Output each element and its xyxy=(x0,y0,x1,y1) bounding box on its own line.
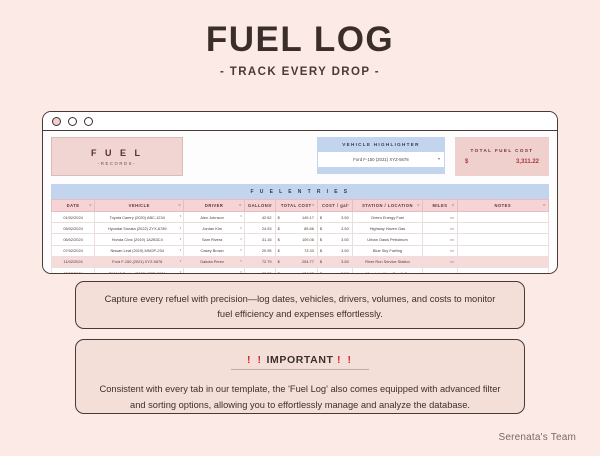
cell-station-value: Urban Oasis Petroleum xyxy=(367,237,407,242)
cell-miles-value: mi xyxy=(450,248,454,253)
total-fuel-cost-card: TOTAL FUEL COST $ 3,311.22 xyxy=(455,137,549,176)
chevron-down-icon[interactable]: ▾ xyxy=(240,214,242,218)
cell-cost-per-gal[interactable]: $3.50 xyxy=(317,212,352,223)
column-header-label: DATE xyxy=(67,203,80,208)
cell-cost-per-gal-value: 3.50 xyxy=(341,237,349,242)
cell-gallons-value: 20.95 xyxy=(262,248,272,253)
currency-symbol: $ xyxy=(278,271,280,274)
column-header-label: TOTAL COST xyxy=(281,203,312,208)
table-row[interactable]: 11/02/2024Ford F-150 (2021) XYZ-5678▾Dak… xyxy=(52,256,549,267)
table-header: DATE▽VEHICLE▽DRIVER▽GALLONS▽TOTAL COST▽C… xyxy=(52,200,549,212)
total-fuel-cost-currency: $ xyxy=(465,159,468,165)
column-header-date[interactable]: DATE▽ xyxy=(52,200,95,212)
filter-icon[interactable]: ▽ xyxy=(178,203,181,207)
chevron-down-icon[interactable]: ▾ xyxy=(180,248,182,252)
cell-notes[interactable] xyxy=(457,223,548,234)
cell-miles-value: mi xyxy=(450,271,454,274)
vehicle-highlighter-footer xyxy=(317,167,445,174)
spreadsheet-body: F U E L -RECORDS- VEHICLE HIGHLIGHTER Fo… xyxy=(43,131,557,273)
table-row[interactable]: 07/02/2024Nissan Leaf (2019) MNOP-234▾Ca… xyxy=(52,245,549,256)
filter-icon[interactable]: ▽ xyxy=(347,203,350,207)
cell-miles[interactable]: mi xyxy=(423,245,457,256)
cell-date-value: 01/02/2024 xyxy=(63,215,82,220)
warning-bang-right-icon: ! ! xyxy=(337,354,353,366)
maximize-dot-icon[interactable] xyxy=(84,117,93,126)
fuel-records-title: F U E L xyxy=(91,148,143,158)
cell-miles[interactable]: mi xyxy=(423,212,457,223)
cell-miles-value: mi xyxy=(450,215,454,220)
cell-vehicle-value: BMW 3 Series (2020) QRS-8901 xyxy=(109,271,166,274)
cell-driver-value: Dakota Perez xyxy=(200,259,224,264)
cell-date[interactable]: 11/02/2024 xyxy=(52,256,95,267)
cell-gallons-value: 42.62 xyxy=(262,215,272,220)
page-subtitle: - TRACK EVERY DROP - xyxy=(0,66,600,78)
fuel-entries-table: DATE▽VEHICLE▽DRIVER▽GALLONS▽TOTAL COST▽C… xyxy=(51,199,549,274)
cell-station[interactable]: Blue Sky Fueling xyxy=(352,245,423,256)
warning-bang-left-icon: ! ! xyxy=(247,354,263,366)
cell-station-value: Highway Haven Gas xyxy=(370,226,405,231)
cell-cost-per-gal[interactable]: $3.50 xyxy=(317,267,352,274)
cell-station-value: Blue Sky Fueling xyxy=(373,248,402,253)
table-row[interactable]: 01/02/2024Toyota Camry (2020) ABC-1234▾A… xyxy=(52,212,549,223)
cell-total-cost[interactable]: $149.17 xyxy=(275,212,317,223)
cell-driver[interactable]: ▾ xyxy=(184,267,245,274)
currency-symbol: $ xyxy=(320,248,322,253)
filter-icon[interactable]: ▽ xyxy=(239,203,242,207)
cell-driver[interactable]: Jordan Kim▾ xyxy=(184,223,245,234)
cell-miles-value: mi xyxy=(450,259,454,264)
cell-total-cost[interactable]: $85.86 xyxy=(275,223,317,234)
filter-icon[interactable]: ▽ xyxy=(89,203,92,207)
cell-cost-per-gal[interactable]: $3.50 xyxy=(317,223,352,234)
column-header-gallons[interactable]: GALLONS▽ xyxy=(244,200,275,212)
cell-gallons-value: 24.53 xyxy=(262,226,272,231)
cell-notes[interactable] xyxy=(457,256,548,267)
column-header-driver[interactable]: DRIVER▽ xyxy=(184,200,245,212)
important-text: Consistent with every tab in our templat… xyxy=(98,381,502,414)
cell-gallons[interactable]: 24.53 xyxy=(244,223,275,234)
cell-total-cost-value: 254.77 xyxy=(302,259,314,264)
column-header-label: NOTES xyxy=(495,203,512,208)
column-header-label: VEHICLE xyxy=(129,203,150,208)
spreadsheet-window: F U E L -RECORDS- VEHICLE HIGHLIGHTER Fo… xyxy=(42,111,558,274)
currency-symbol: $ xyxy=(278,237,280,242)
cell-total-cost-value: 149.17 xyxy=(302,215,314,220)
cell-gallons[interactable]: 72.79 xyxy=(244,256,275,267)
cell-total-cost[interactable]: $124.53 xyxy=(275,267,317,274)
column-header-label: COST / gal xyxy=(322,203,348,208)
filter-icon[interactable]: ▽ xyxy=(270,203,273,207)
column-header-vehicle[interactable]: VEHICLE▽ xyxy=(95,200,184,212)
currency-symbol: $ xyxy=(278,215,280,220)
page-header: FUEL LOG - TRACK EVERY DROP - xyxy=(0,0,600,78)
cell-cost-per-gal[interactable]: $3.50 xyxy=(317,245,352,256)
fuel-records-card: F U E L -RECORDS- xyxy=(51,137,183,176)
chevron-down-icon[interactable]: ▾ xyxy=(180,270,182,274)
cell-date[interactable]: 01/02/2024 xyxy=(52,212,95,223)
cell-driver-value: Casey Brown xyxy=(201,248,224,253)
page-root: FUEL LOG - TRACK EVERY DROP - F U E L -R… xyxy=(0,0,600,456)
cell-date-value: 07/02/2024 xyxy=(63,248,82,253)
cell-date[interactable]: 07/02/2024 xyxy=(52,245,95,256)
cell-station[interactable]: River Run Service Station xyxy=(352,256,423,267)
fuel-records-subtitle: -RECORDS- xyxy=(98,161,136,166)
column-header-label: GALLONS xyxy=(248,203,272,208)
fuel-entries-table-wrap: F U E L E N T R I E S DATE▽VEHICLE▽DRIVE… xyxy=(51,184,549,274)
currency-symbol: $ xyxy=(320,271,322,274)
currency-symbol: $ xyxy=(278,226,280,231)
cell-vehicle[interactable]: Hyundai Sonata (2022) ZYX-6789▾ xyxy=(95,223,184,234)
total-fuel-cost-amount: 3,311.22 xyxy=(516,159,539,165)
cell-vehicle[interactable]: Honda Civic (2019) 1A2B3C4▾ xyxy=(95,234,184,245)
cell-total-cost[interactable]: $73.33 xyxy=(275,245,317,256)
cell-miles[interactable]: mi xyxy=(423,234,457,245)
cell-date[interactable]: 05/02/2024 xyxy=(52,223,95,234)
chevron-down-icon[interactable]: ▾ xyxy=(180,237,182,241)
cell-miles-value: mi xyxy=(450,226,454,231)
currency-symbol: $ xyxy=(320,215,322,220)
cell-total-cost[interactable]: $109.06 xyxy=(275,234,317,245)
cell-station-value: River Run Service Station xyxy=(365,259,410,264)
currency-symbol: $ xyxy=(320,237,322,242)
column-header-cost-gal[interactable]: COST / gal▽ xyxy=(317,200,352,212)
currency-symbol: $ xyxy=(278,259,280,264)
cell-miles[interactable]: mi xyxy=(423,256,457,267)
cell-total-cost-value: 109.06 xyxy=(302,237,314,242)
description-text: Capture every refuel with precision—log … xyxy=(102,292,498,323)
cell-miles[interactable]: mi xyxy=(423,267,457,274)
currency-symbol: $ xyxy=(320,226,322,231)
table-row[interactable]: 12/02/2024BMW 3 Series (2020) QRS-8901▾▾… xyxy=(52,267,549,274)
cell-driver-value: Jordan Kim xyxy=(202,226,222,231)
cell-gallons-value: 31.16 xyxy=(262,237,272,242)
cell-driver-value: Sam Rivera xyxy=(202,237,222,242)
cell-vehicle-value: Toyota Camry (2020) ABC-1234 xyxy=(110,215,165,220)
important-heading: ! ! IMPORTANT ! ! xyxy=(231,354,369,370)
chevron-down-icon[interactable]: ▾ xyxy=(240,248,242,252)
cell-total-cost-value: 73.33 xyxy=(304,248,314,253)
cell-station[interactable]: Green Energy Fuel xyxy=(352,212,423,223)
footer-credit: Serenata's Team xyxy=(498,432,576,443)
chevron-down-icon: ▾ xyxy=(438,156,440,161)
cell-gallons-value: 35.58 xyxy=(262,271,272,274)
chevron-down-icon[interactable]: ▾ xyxy=(240,237,242,241)
chevron-down-icon[interactable]: ▾ xyxy=(180,259,182,263)
cell-date[interactable]: 06/02/2024 xyxy=(52,234,95,245)
cell-cost-per-gal[interactable]: $3.50 xyxy=(317,256,352,267)
cell-vehicle-value: Nissan Leaf (2019) MNOP-234 xyxy=(111,248,164,253)
cell-total-cost-value: 124.53 xyxy=(302,271,314,274)
cell-driver-value: Alex Johnson xyxy=(200,215,223,220)
cell-cost-per-gal-value: 3.50 xyxy=(341,215,349,220)
column-header-notes[interactable]: NOTES▽ xyxy=(457,200,548,212)
cell-station[interactable]: Urban Oasis Petroleum xyxy=(352,234,423,245)
cell-notes[interactable] xyxy=(457,267,548,274)
table-header-row: DATE▽VEHICLE▽DRIVER▽GALLONS▽TOTAL COST▽C… xyxy=(52,200,549,212)
cell-driver[interactable]: Casey Brown▾ xyxy=(184,245,245,256)
cell-driver[interactable]: Sam Rivera▾ xyxy=(184,234,245,245)
chevron-down-icon[interactable]: ▾ xyxy=(240,270,242,274)
close-dot-icon[interactable] xyxy=(52,117,61,126)
column-header-miles[interactable]: MILES▽ xyxy=(423,200,457,212)
cell-gallons[interactable]: 42.62 xyxy=(244,212,275,223)
cell-vehicle[interactable]: BMW 3 Series (2020) QRS-8901▾ xyxy=(95,267,184,274)
cell-vehicle[interactable]: Ford F-150 (2021) XYZ-5678▾ xyxy=(95,256,184,267)
cell-driver[interactable]: Alex Johnson▾ xyxy=(184,212,245,223)
cell-date-value: 06/02/2024 xyxy=(63,237,82,242)
cell-station[interactable]: Mountain View Gas & Go xyxy=(352,267,423,274)
column-header-total-cost[interactable]: TOTAL COST▽ xyxy=(275,200,317,212)
minimize-dot-icon[interactable] xyxy=(68,117,77,126)
filter-icon[interactable]: ▽ xyxy=(543,203,546,207)
summary-cards-row: F U E L -RECORDS- VEHICLE HIGHLIGHTER Fo… xyxy=(51,137,549,176)
cell-vehicle[interactable]: Nissan Leaf (2019) MNOP-234▾ xyxy=(95,245,184,256)
cell-gallons-value: 72.79 xyxy=(262,259,272,264)
currency-symbol: $ xyxy=(320,259,322,264)
cell-gallons[interactable]: 31.16 xyxy=(244,234,275,245)
important-box: ! ! IMPORTANT ! ! Consistent with every … xyxy=(75,339,525,414)
chevron-down-icon[interactable]: ▾ xyxy=(180,214,182,218)
cell-notes[interactable] xyxy=(457,234,548,245)
filter-icon[interactable]: ▽ xyxy=(312,203,315,207)
currency-symbol: $ xyxy=(278,248,280,253)
cell-station-value: Mountain View Gas & Go xyxy=(366,271,410,274)
description-box: Capture every refuel with precision—log … xyxy=(75,281,525,329)
window-titlebar xyxy=(43,112,557,131)
vehicle-highlighter-value: Ford F-150 (2021) XYZ-5678 xyxy=(353,157,408,162)
cell-vehicle-value: Honda Civic (2019) 1A2B3C4 xyxy=(112,237,163,242)
chevron-down-icon[interactable]: ▾ xyxy=(240,259,242,263)
cell-miles[interactable]: mi xyxy=(423,223,457,234)
cell-date-value: 05/02/2024 xyxy=(63,226,82,231)
cell-vehicle[interactable]: Toyota Camry (2020) ABC-1234▾ xyxy=(95,212,184,223)
cell-cost-per-gal-value: 3.50 xyxy=(341,271,349,274)
cell-miles-value: mi xyxy=(450,237,454,242)
cell-date[interactable]: 12/02/2024 xyxy=(52,267,95,274)
important-label: IMPORTANT xyxy=(266,354,333,366)
filter-icon[interactable]: ▽ xyxy=(452,203,455,207)
vehicle-highlighter-card: VEHICLE HIGHLIGHTER Ford F-150 (2021) XY… xyxy=(317,137,445,174)
cell-notes[interactable] xyxy=(457,212,548,223)
cell-date-value: 12/02/2024 xyxy=(63,271,82,274)
cell-vehicle-value: Hyundai Sonata (2022) ZYX-6789 xyxy=(108,226,167,231)
filter-icon[interactable]: ▽ xyxy=(417,203,420,207)
cell-notes[interactable] xyxy=(457,245,548,256)
column-header-label: MILES xyxy=(432,203,447,208)
cell-cost-per-gal[interactable]: $3.50 xyxy=(317,234,352,245)
column-header-label: DRIVER xyxy=(205,203,223,208)
cell-total-cost[interactable]: $254.77 xyxy=(275,256,317,267)
cell-gallons[interactable]: 35.58 xyxy=(244,267,275,274)
chevron-down-icon[interactable]: ▾ xyxy=(240,226,242,230)
cell-gallons[interactable]: 20.95 xyxy=(244,245,275,256)
cell-cost-per-gal-value: 3.50 xyxy=(341,248,349,253)
cell-driver[interactable]: Dakota Perez▾ xyxy=(184,256,245,267)
cell-total-cost-value: 85.86 xyxy=(304,226,314,231)
cell-station[interactable]: Highway Haven Gas xyxy=(352,223,423,234)
table-row[interactable]: 05/02/2024Hyundai Sonata (2022) ZYX-6789… xyxy=(52,223,549,234)
page-title: FUEL LOG xyxy=(0,22,600,57)
cell-vehicle-value: Ford F-150 (2021) XYZ-5678 xyxy=(112,259,162,264)
chevron-down-icon[interactable]: ▾ xyxy=(180,226,182,230)
cell-station-value: Green Energy Fuel xyxy=(371,215,404,220)
vehicle-highlighter-select[interactable]: Ford F-150 (2021) XYZ-5678 ▾ xyxy=(317,152,445,167)
table-body: 01/02/2024Toyota Camry (2020) ABC-1234▾A… xyxy=(52,212,549,275)
column-header-label: STATION / LOCATION xyxy=(362,203,413,208)
table-row[interactable]: 06/02/2024Honda Civic (2019) 1A2B3C4▾Sam… xyxy=(52,234,549,245)
fuel-entries-banner: F U E L E N T R I E S xyxy=(51,184,549,199)
cell-cost-per-gal-value: 3.50 xyxy=(341,226,349,231)
total-fuel-cost-row: $ 3,311.22 xyxy=(455,153,549,165)
vehicle-highlighter-label: VEHICLE HIGHLIGHTER xyxy=(317,137,445,152)
column-header-station-location[interactable]: STATION / LOCATION▽ xyxy=(352,200,423,212)
cell-date-value: 11/02/2024 xyxy=(63,259,82,264)
cell-cost-per-gal-value: 3.50 xyxy=(341,259,349,264)
